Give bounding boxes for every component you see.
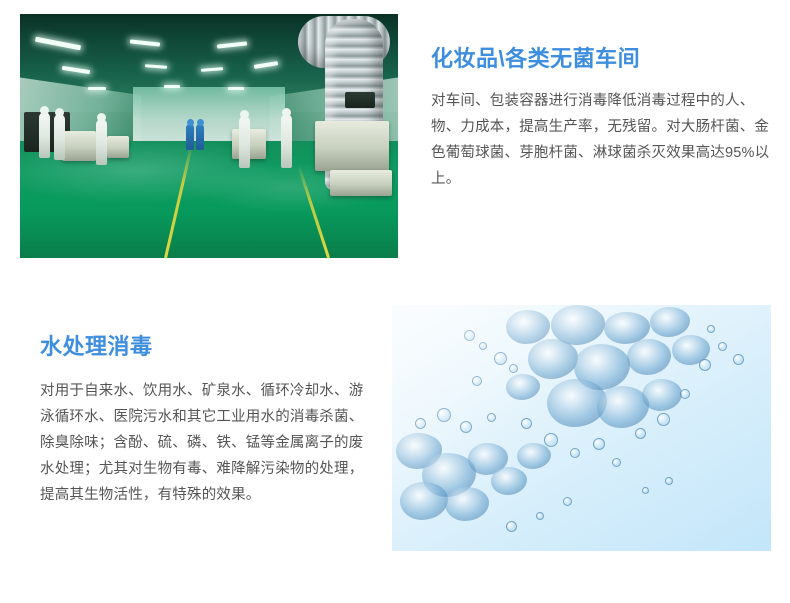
water-splash <box>400 482 448 520</box>
cleanroom-equipment <box>330 170 392 196</box>
cleanroom-text-block: 化妆品\各类无菌车间 对车间、包装容器进行消毒降低消毒过程中的人、物、力成本，提… <box>431 46 771 192</box>
water-bubble <box>642 487 649 494</box>
water-bubble <box>521 418 532 429</box>
cleanroom-worker <box>281 114 292 168</box>
water-splash <box>627 339 671 375</box>
water-bubble <box>487 413 496 422</box>
water-bubble <box>464 330 475 341</box>
water-bubble <box>699 359 711 371</box>
water-bubble <box>707 325 715 333</box>
water-splash <box>642 379 682 411</box>
cleanroom-photo <box>20 14 398 258</box>
water-bubble <box>506 521 517 532</box>
water-bubbles-photo <box>392 305 771 551</box>
ceiling-lamp <box>164 85 180 88</box>
water-bubble <box>665 477 673 485</box>
water-bubble <box>536 512 544 520</box>
water-treatment-title: 水处理消毒 <box>40 334 375 360</box>
ceiling-lamp <box>88 87 106 90</box>
cleanroom-worker <box>239 116 250 168</box>
water-treatment-text-block: 水处理消毒 对用于自来水、饮用水、矿泉水、循环冷却水、游泳循环水、医院污水和其它… <box>40 334 375 508</box>
water-bubble <box>680 389 690 399</box>
cleanroom-worker <box>96 119 107 165</box>
water-splash <box>650 307 690 337</box>
water-splash <box>597 386 649 428</box>
water-bubble <box>544 433 558 447</box>
water-splash <box>506 310 550 344</box>
water-splash <box>506 374 540 400</box>
water-splash <box>517 443 551 469</box>
cleanroom-body-text: 对车间、包装容器进行消毒降低消毒过程中的人、物、力成本，提高生产率，无残留。对大… <box>431 88 771 192</box>
cleanroom-worker-blue <box>196 124 204 150</box>
water-bubble <box>718 342 727 351</box>
ceiling-lamp <box>228 87 244 90</box>
water-bubble <box>509 364 518 373</box>
cleanroom-equipment <box>62 131 96 161</box>
cleanroom-equipment <box>345 92 375 108</box>
cleanroom-worker <box>54 114 65 160</box>
cleanroom-worker <box>39 112 50 158</box>
water-bubble <box>657 413 670 426</box>
water-bubble <box>479 342 487 350</box>
water-splash <box>445 487 489 521</box>
water-bubble <box>635 428 646 439</box>
water-bubble <box>570 448 580 458</box>
water-splash <box>528 339 578 379</box>
water-bubble <box>494 352 507 365</box>
cleanroom-equipment <box>315 121 389 171</box>
water-bubble <box>593 438 605 450</box>
water-bubble <box>437 408 451 422</box>
water-bubble <box>472 376 482 386</box>
water-bubble <box>612 458 621 467</box>
cleanroom-title: 化妆品\各类无菌车间 <box>431 46 771 72</box>
water-splash <box>491 467 527 495</box>
water-treatment-body-text: 对用于自来水、饮用水、矿泉水、循环冷却水、游泳循环水、医院污水和其它工业用水的消… <box>40 378 375 508</box>
water-bubble <box>733 354 744 365</box>
cleanroom-worker-blue <box>186 124 194 150</box>
cleanroom-equipment <box>107 136 129 158</box>
water-bubble <box>563 497 572 506</box>
water-bubble <box>460 421 472 433</box>
water-bubble <box>415 418 426 429</box>
